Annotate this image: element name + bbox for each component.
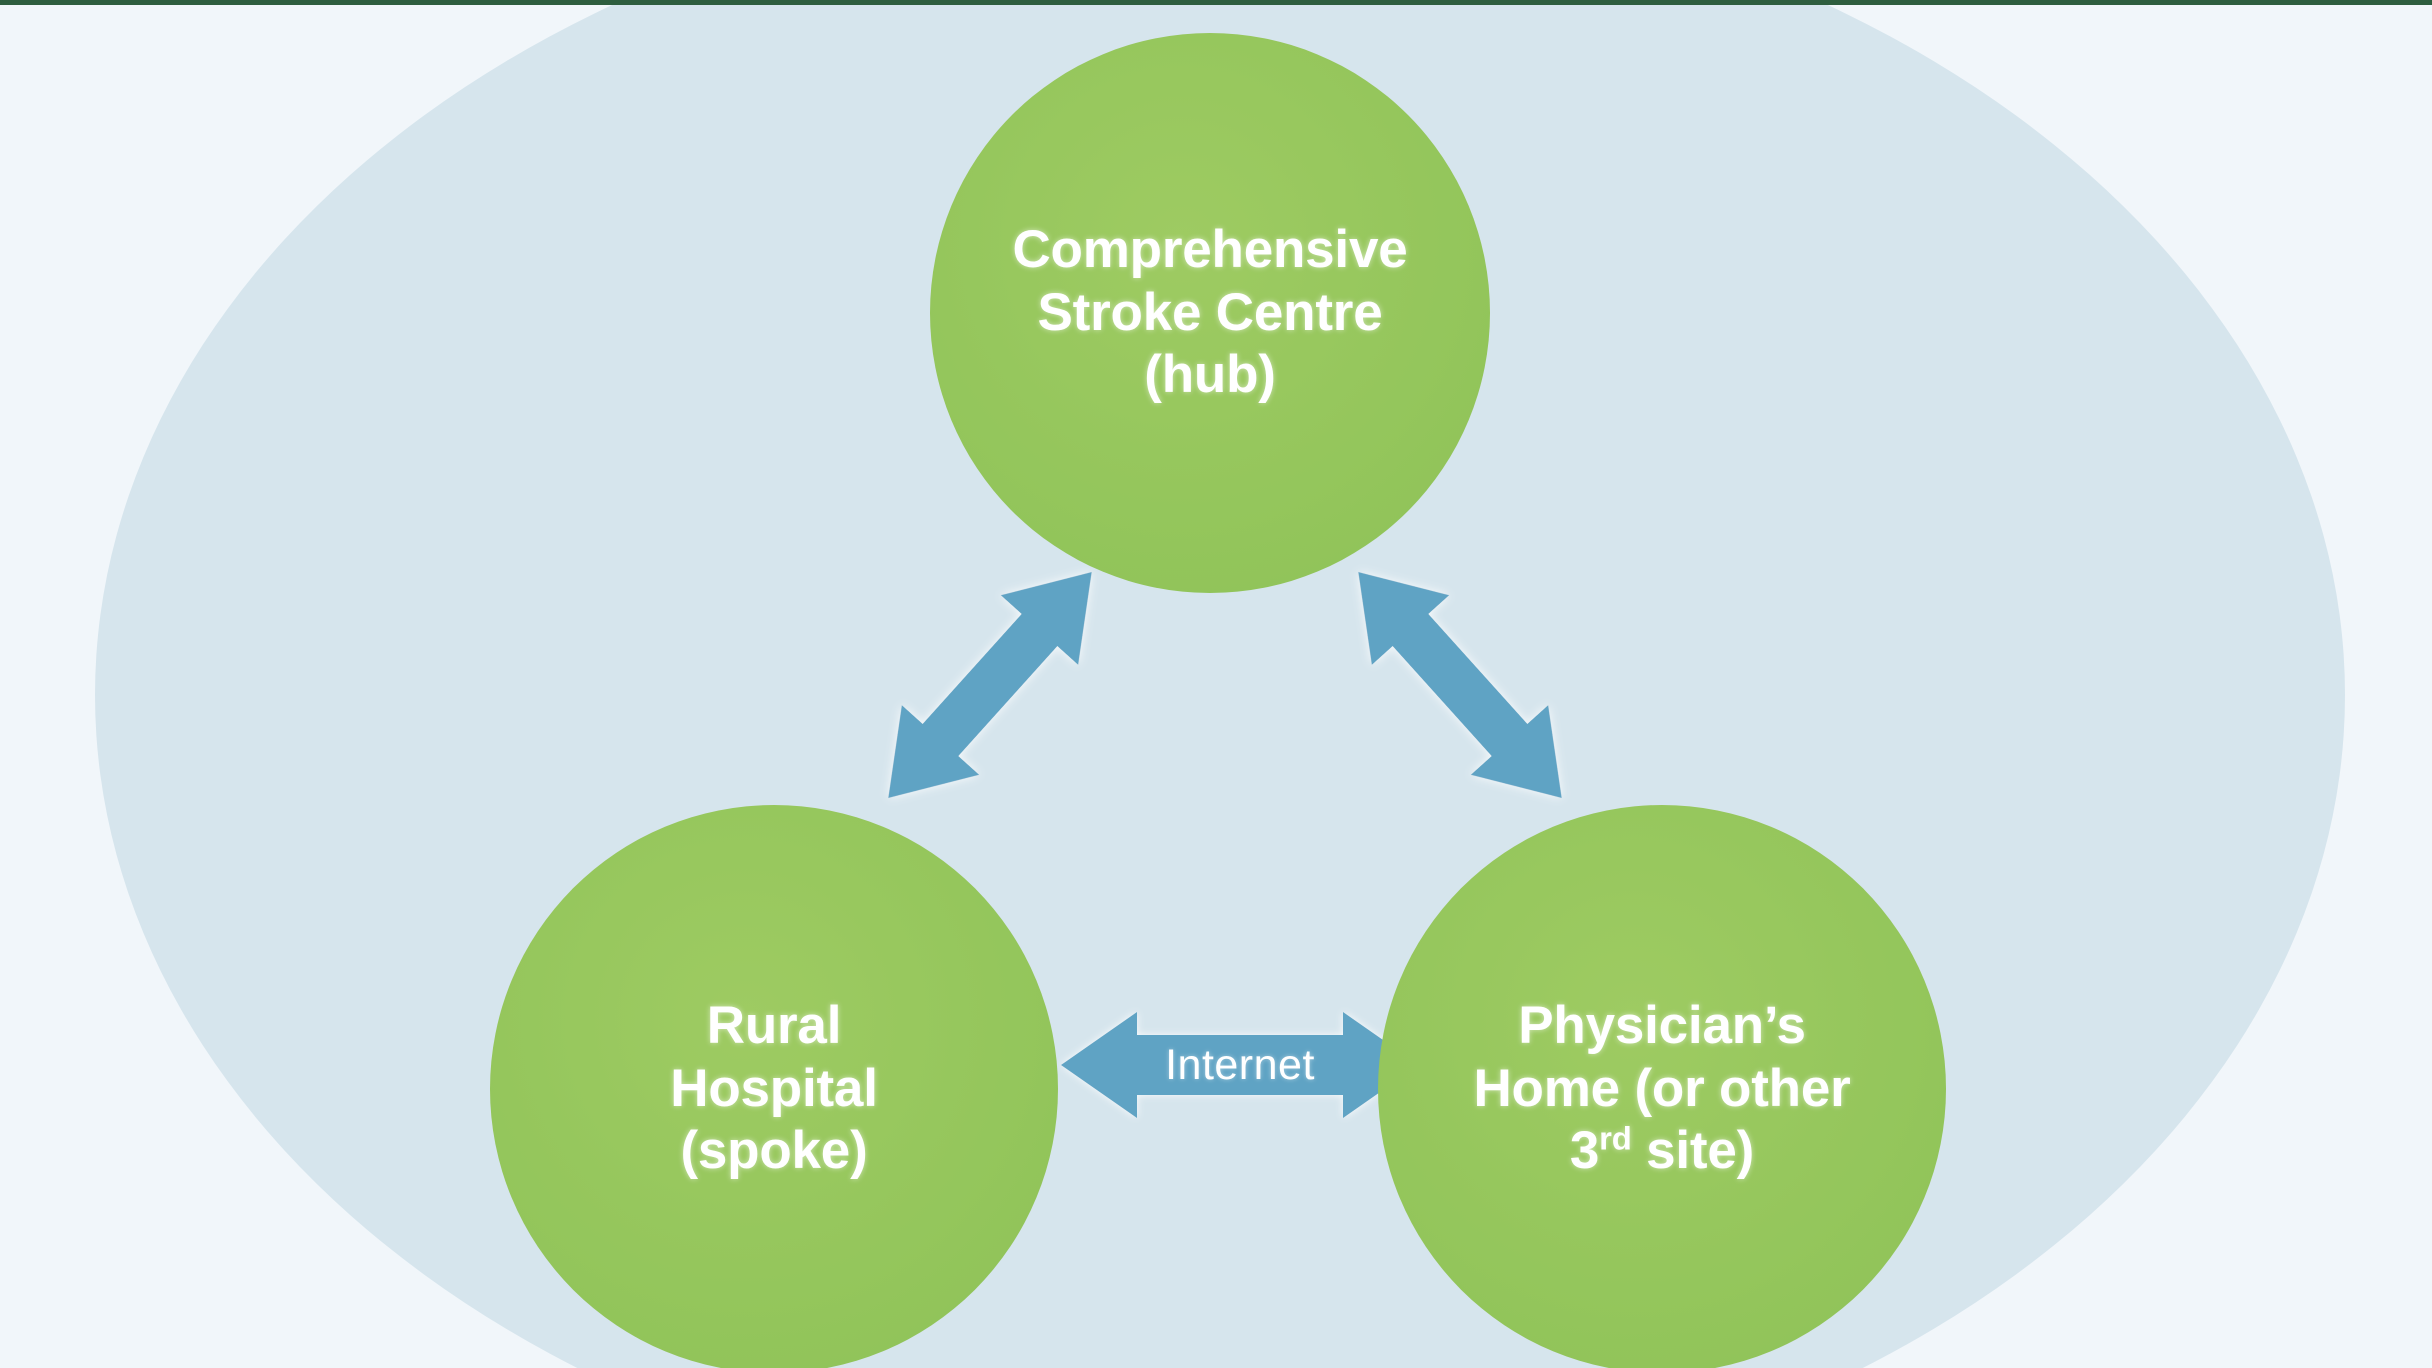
node-comprehensive-stroke-centre[interactable]: Comprehensive Stroke Centre (hub) [930, 33, 1490, 593]
node-rural-hospital[interactable]: Rural Hospital (spoke) [490, 805, 1058, 1368]
node-physician-line-3: 3rd site) [1473, 1120, 1850, 1183]
node-hub-line-1: Comprehensive [1012, 219, 1407, 282]
connector-internet-arrow [1055, 990, 1425, 1140]
node-physician-line-3-prefix: 3 [1570, 1121, 1599, 1180]
node-rural-label: Rural Hospital (spoke) [660, 995, 887, 1183]
node-physician-line-3-suffix: site) [1632, 1121, 1755, 1180]
connector-hub-physician-arrow [1300, 525, 1620, 845]
node-hub-label: Comprehensive Stroke Centre (hub) [1002, 219, 1417, 407]
node-physician-line-3-superscript: rd [1599, 1120, 1631, 1157]
node-physician-home[interactable]: Physician’s Home (or other 3rd site) [1378, 805, 1946, 1368]
node-hub-line-3: (hub) [1012, 344, 1407, 407]
node-physician-line-2: Home (or other [1473, 1058, 1850, 1121]
node-rural-line-3: (spoke) [670, 1120, 877, 1183]
node-rural-line-1: Rural [670, 995, 877, 1058]
connector-hub-rural-arrow [830, 525, 1150, 845]
node-physician-label: Physician’s Home (or other 3rd site) [1463, 995, 1860, 1183]
node-physician-line-1: Physician’s [1473, 995, 1850, 1058]
node-hub-line-2: Stroke Centre [1012, 282, 1407, 345]
diagram-canvas: Internet Comprehensive Stroke Centre (hu… [0, 0, 2432, 1368]
node-rural-line-2: Hospital [670, 1058, 877, 1121]
